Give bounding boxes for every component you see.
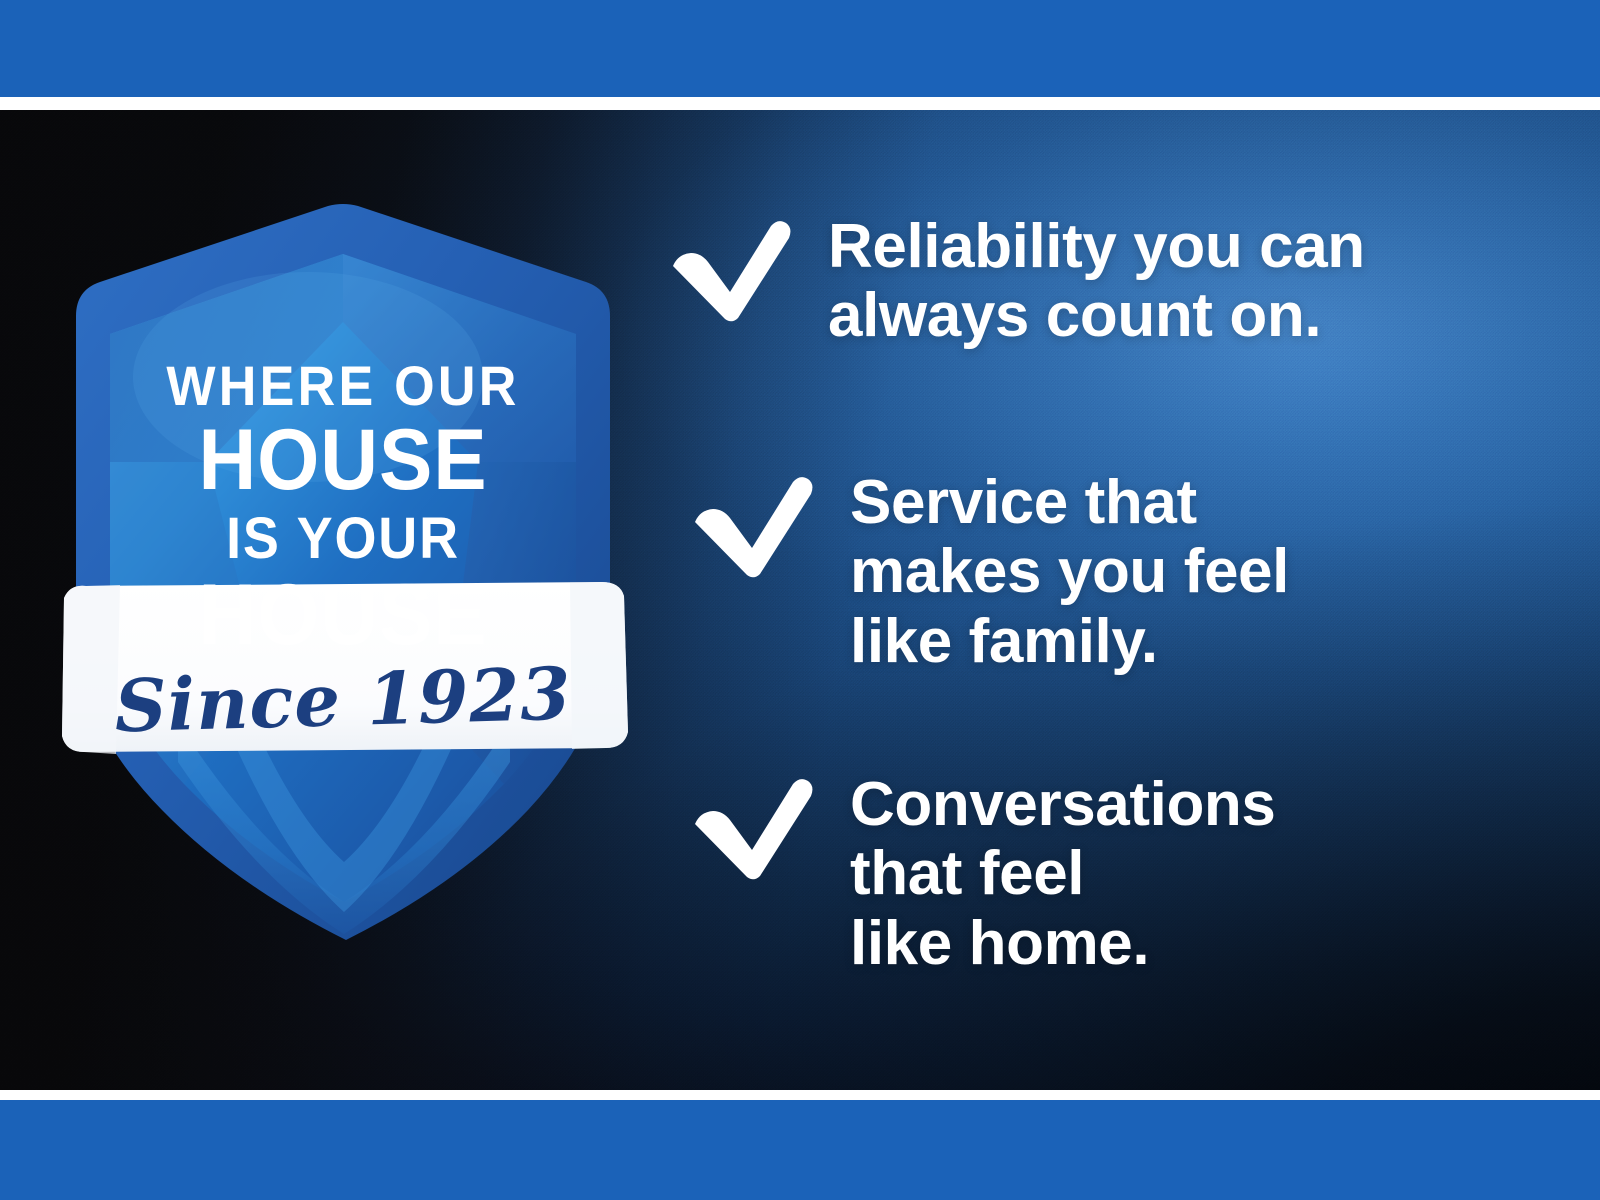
promo-poster: WHERE OUR HOUSE IS YOUR HOUSE Since 1923… [0,0,1600,1200]
check-icon [692,778,816,882]
bottom-brand-bar [0,1100,1600,1200]
top-brand-bar [0,0,1600,97]
benefit-line: like home. [850,909,1275,978]
benefit-line: always count on. [828,281,1365,350]
benefit-item-reliability: Reliability you can always count on. [670,212,1365,351]
benefits-list: Reliability you can always count on. Ser… [670,110,1550,1090]
benefit-line: that feel [850,839,1275,908]
benefit-item-service: Service that makes you feel like family. [692,468,1289,676]
benefit-line: like family. [850,607,1289,676]
benefit-line: Conversations [850,770,1275,839]
check-icon [670,220,794,324]
benefit-text-reliability: Reliability you can always count on. [828,212,1365,351]
benefit-text-service: Service that makes you feel like family. [850,468,1289,676]
benefit-text-conversations: Conversations that feel like home. [850,770,1275,978]
benefit-line: makes you feel [850,537,1289,606]
benefit-line: Service that [850,468,1289,537]
since-1923-script-text: Since 1923 [57,656,629,744]
benefit-item-conversations: Conversations that feel like home. [692,770,1275,978]
benefit-line: Reliability you can [828,212,1365,281]
since-1923-shield-badge: WHERE OUR HOUSE IS YOUR HOUSE Since 1923 [58,162,628,842]
check-icon [692,476,816,580]
